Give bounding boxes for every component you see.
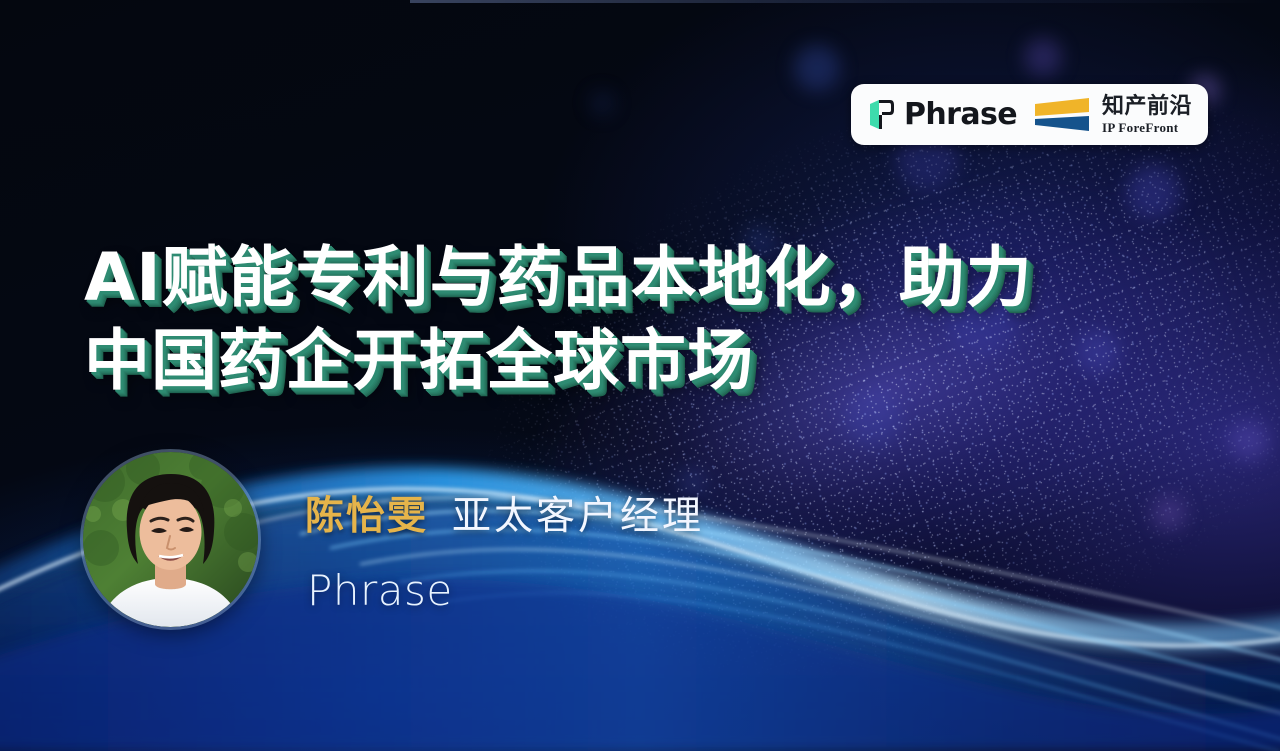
ip-forefront-chinese: 知产前沿 [1102, 96, 1192, 118]
speaker-portrait [83, 452, 258, 627]
top-highlight-strip [410, 0, 1280, 3]
ip-forefront-english: IP ForeFront [1102, 121, 1192, 134]
ip-forefront-logo-mark [1031, 95, 1093, 135]
ip-forefront-text: 知产前沿 IP ForeFront [1102, 96, 1192, 134]
speaker-avatar [83, 452, 258, 627]
slide-title: AI赋能专利与药品本地化，助力 中国药企开拓全球市场 [84, 236, 1214, 402]
logo-badge: Phrase 知产前沿 IP ForeFront [851, 84, 1208, 145]
title-line-1: AI赋能专利与药品本地化，助力 [84, 236, 1214, 319]
phrase-wordmark: Phrase [904, 100, 1017, 130]
speaker-info: 陈怡雯 亚太客户经理 [305, 485, 704, 541]
title-line-2: 中国药企开拓全球市场 [84, 319, 1214, 402]
ip-forefront-logo: 知产前沿 IP ForeFront [1031, 95, 1192, 135]
phrase-logo-mark [868, 99, 895, 130]
phrase-logo: Phrase [851, 99, 1017, 130]
presentation-slide: Phrase 知产前沿 IP ForeFront AI赋能专利与药品本地化，助力… [0, 0, 1280, 751]
speaker-company: Phrase [307, 566, 453, 615]
speaker-name: 陈怡雯 [305, 485, 428, 541]
speaker-role: 亚太客户经理 [452, 485, 704, 541]
